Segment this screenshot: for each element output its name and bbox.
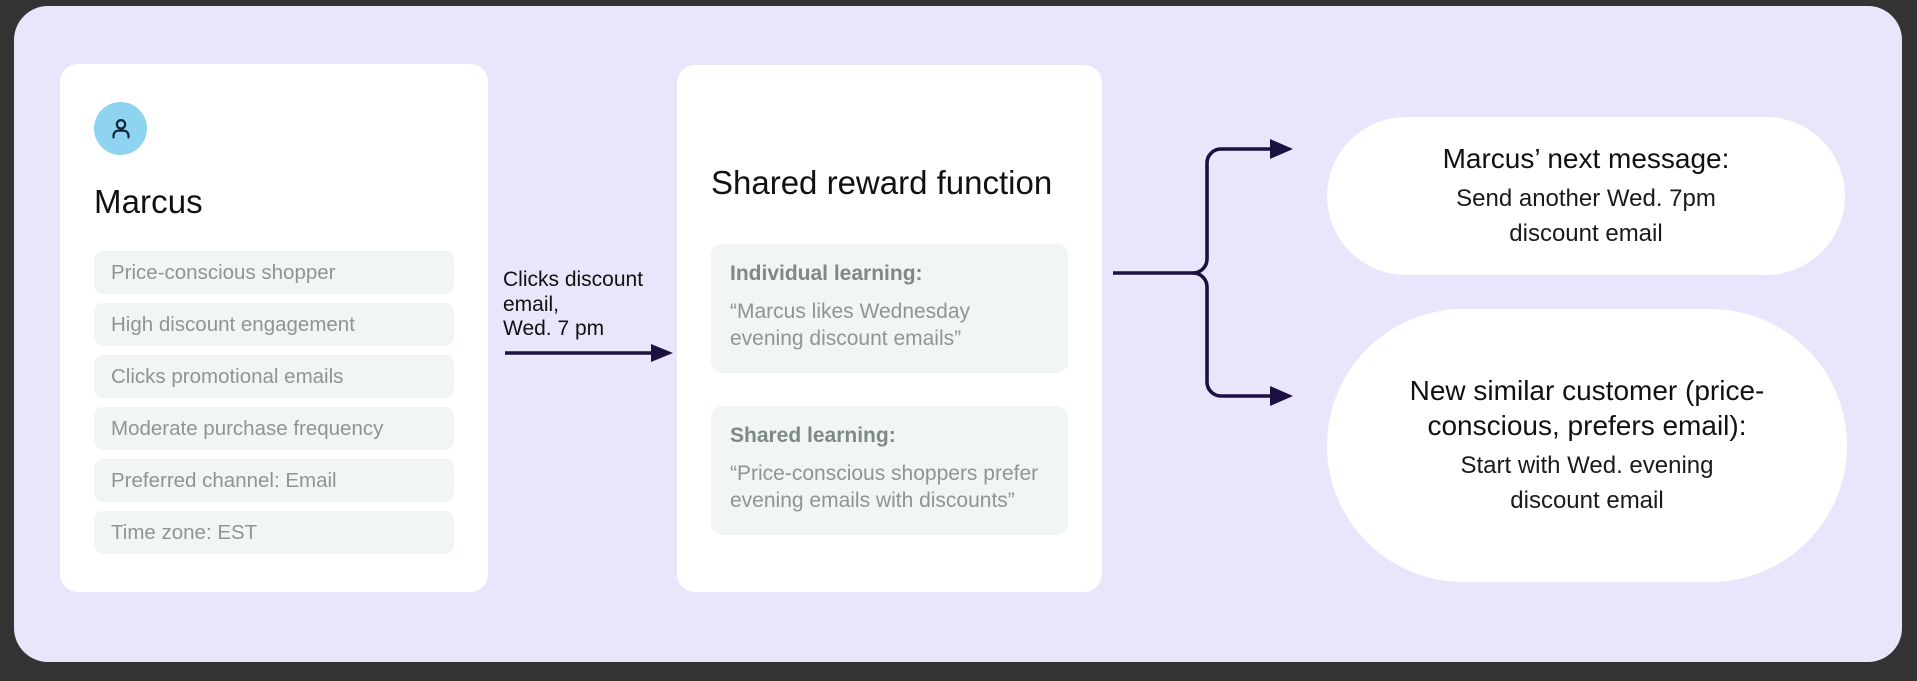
individual-learning-box: Individual learning: “Marcus likes Wedne… (711, 244, 1068, 373)
list-item: Price-conscious shopper (94, 251, 454, 294)
shared-learning-label: Shared learning: (730, 424, 1049, 448)
list-item: Moderate purchase frequency (94, 407, 454, 450)
outcome-body: Send another Wed. 7pm discount email (1416, 182, 1756, 250)
persona-tag-list: Price-conscious shopper High discount en… (94, 251, 454, 554)
person-icon (107, 115, 135, 143)
individual-learning-quote: “Marcus likes Wednesday evening discount… (730, 299, 1049, 353)
persona-card: Marcus Price-conscious shopper High disc… (60, 64, 488, 592)
branching-arrow-icon (1113, 135, 1328, 410)
shared-learning-quote: “Price-conscious shoppers prefer evening… (730, 461, 1049, 515)
avatar (94, 102, 147, 155)
list-item: Preferred channel: Email (94, 459, 454, 502)
flow-arrow-1: Clicks discount email, Wed. 7 pm (503, 268, 683, 368)
outcome-body: Start with Wed. evening discount email (1417, 449, 1757, 517)
list-item: High discount engagement (94, 303, 454, 346)
shared-learning-box: Shared learning: “Price-conscious shoppe… (711, 406, 1068, 535)
list-item: Clicks promotional emails (94, 355, 454, 398)
reward-card-title: Shared reward function (711, 164, 1068, 202)
flow-arrow-1-label: Clicks discount email, Wed. 7 pm (503, 268, 643, 342)
arrow-right-icon (503, 338, 678, 368)
page-title: Marcus (94, 183, 454, 221)
reward-function-card: Shared reward function Individual learni… (677, 65, 1102, 592)
diagram-root: Marcus Price-conscious shopper High disc… (0, 0, 1917, 681)
outcome-heading: Marcus’ next message: (1443, 141, 1730, 176)
individual-learning-label: Individual learning: (730, 262, 1049, 286)
outcome-pill-next-message: Marcus’ next message: Send another Wed. … (1327, 117, 1845, 275)
list-item: Time zone: EST (94, 511, 454, 554)
outcome-heading: New similar customer (price-conscious, p… (1387, 373, 1787, 443)
outcome-pill-new-customer: New similar customer (price-conscious, p… (1327, 309, 1847, 582)
